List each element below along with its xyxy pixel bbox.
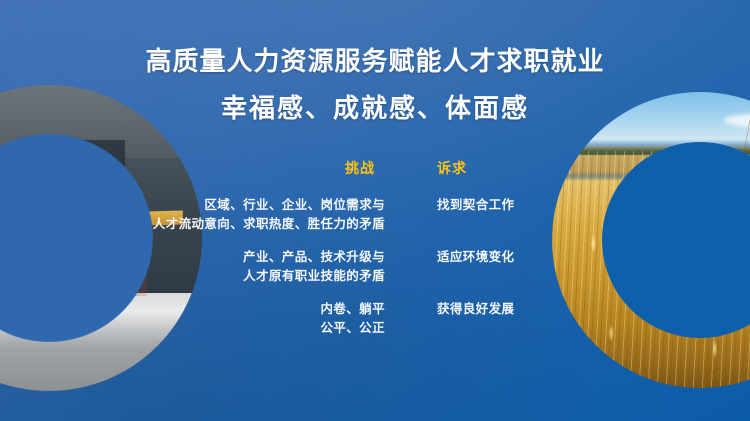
slide-canvas: 9 <box>0 0 750 421</box>
demand-cell: 获得良好发展 <box>437 300 617 319</box>
content-rows: 区域、行业、企业、岗位需求与 人才流动意向、求职热度、胜任力的矛盾 找到契合工作… <box>0 196 750 344</box>
demand-cell: 找到契合工作 <box>437 196 617 215</box>
content-area: 挑战 诉求 区域、行业、企业、岗位需求与 人才流动意向、求职热度、胜任力的矛盾 … <box>0 158 750 344</box>
table-row: 产业、产品、技术升级与 人才原有职业技能的矛盾 适应环境变化 <box>0 248 750 300</box>
slide-title-primary: 高质量人力资源服务赋能人才求职就业 <box>0 44 750 78</box>
challenge-line: 人才流动意向、求职热度、胜任力的矛盾 <box>85 215 385 234</box>
challenge-line: 内卷、躺平 <box>85 300 385 319</box>
challenge-cell: 内卷、躺平 公平、公正 <box>85 300 385 338</box>
challenge-cell: 区域、行业、企业、岗位需求与 人才流动意向、求职热度、胜任力的矛盾 <box>85 196 385 234</box>
table-row: 区域、行业、企业、岗位需求与 人才流动意向、求职热度、胜任力的矛盾 找到契合工作 <box>0 196 750 248</box>
challenge-line: 人才原有职业技能的矛盾 <box>85 267 385 286</box>
column-header-challenge: 挑战 <box>345 158 375 178</box>
column-header-demand: 诉求 <box>437 158 467 178</box>
table-row: 内卷、躺平 公平、公正 获得良好发展 <box>0 300 750 344</box>
challenge-line: 产业、产品、技术升级与 <box>85 248 385 267</box>
challenge-line: 公平、公正 <box>85 319 385 338</box>
slide-title-secondary: 幸福感、成就感、体面感 <box>0 91 750 125</box>
challenge-cell: 产业、产品、技术升级与 人才原有职业技能的矛盾 <box>85 248 385 286</box>
title-block: 高质量人力资源服务赋能人才求职就业 幸福感、成就感、体面感 <box>0 44 750 125</box>
demand-cell: 适应环境变化 <box>437 248 617 267</box>
challenge-line: 区域、行业、企业、岗位需求与 <box>85 196 385 215</box>
column-headers: 挑战 诉求 <box>0 158 750 182</box>
